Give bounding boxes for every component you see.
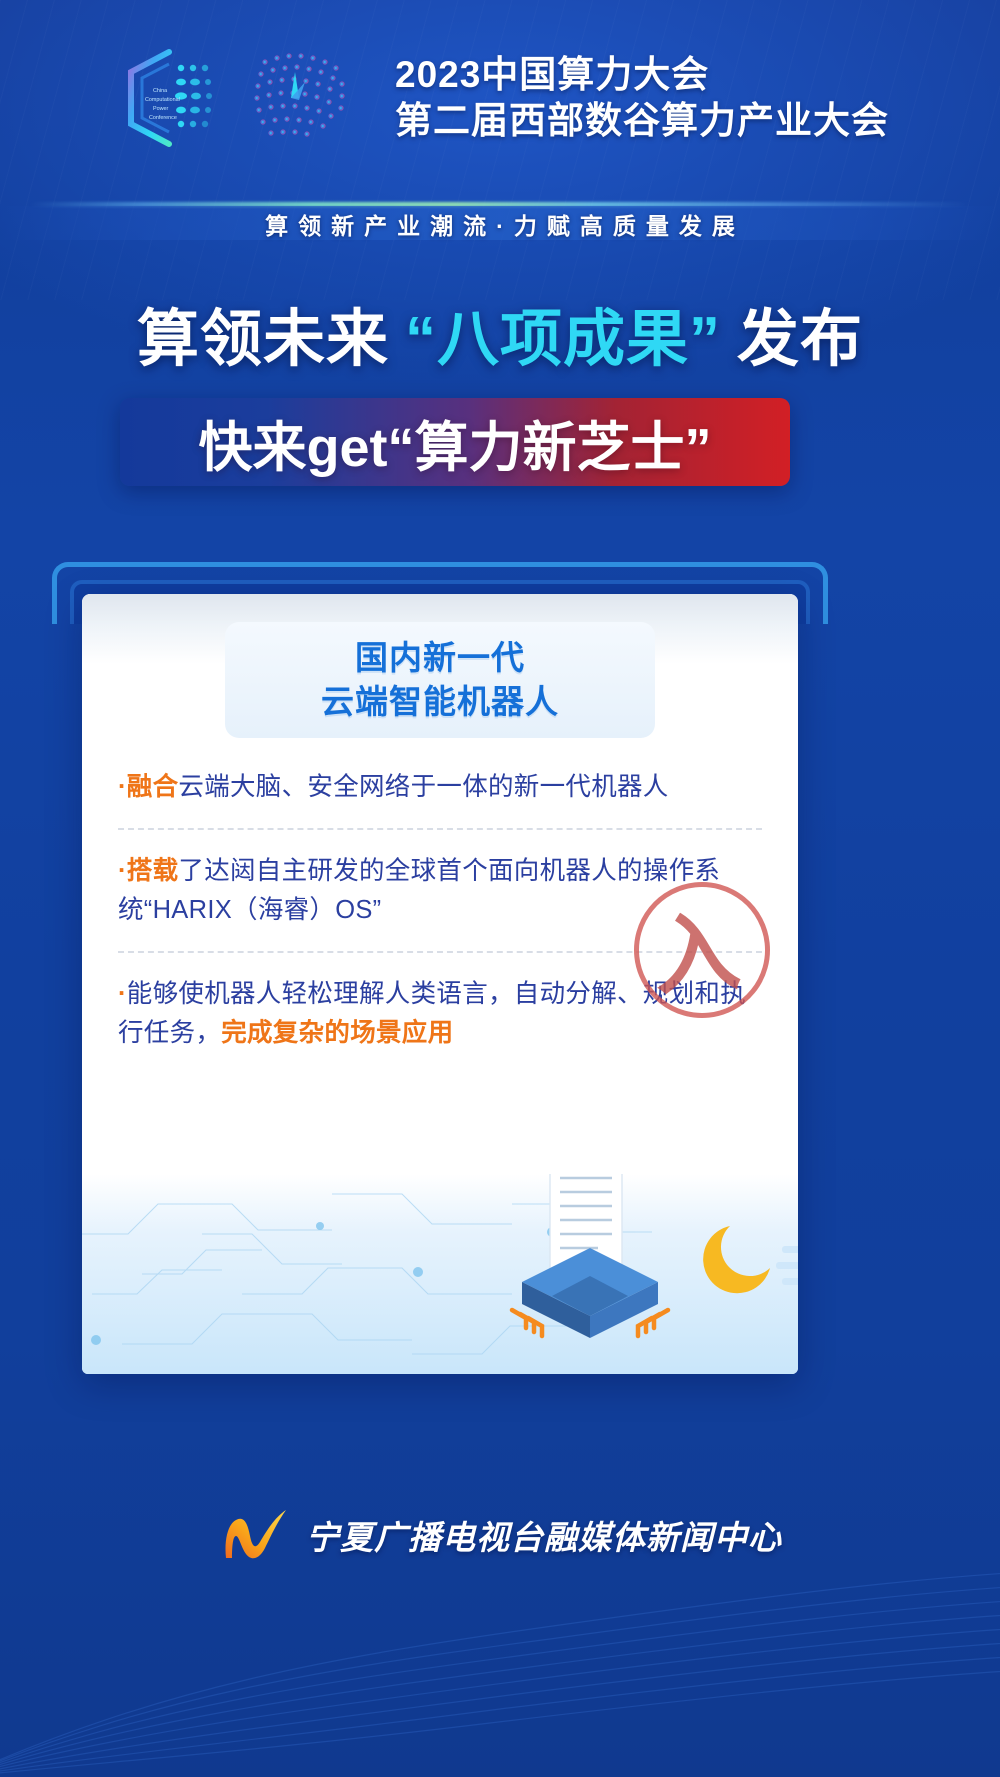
headline-banner-text: 快来get“算力新芝士” <box>120 398 790 486</box>
headline-line-1: 算领未来 “八项成果” 发布 <box>0 288 1000 378</box>
slogan-bar: 算领新产业潮流·力赋高质量发展 <box>0 196 1000 246</box>
card-heading-badge: 国内新一代 云端智能机器人 <box>225 622 655 738</box>
bullet-text: 了达闼自主研发的全球首个面向机器人的操作系统“HARIX（海睿）OS” <box>118 857 720 925</box>
bullet-highlight: 搭载 <box>127 857 179 885</box>
bullet-tail-highlight: 完成复杂的场景应用 <box>221 1019 453 1047</box>
conference-header: China Computational Power Conference <box>0 0 1000 195</box>
conference-title-line1: 2023中国算力大会 <box>395 54 889 95</box>
card-illustration-area <box>82 1174 798 1374</box>
hexagon-dots-logo-icon: China Computational Power Conference <box>111 42 231 154</box>
conference-title-line2: 第二届西部数谷算力产业大会 <box>395 100 889 141</box>
footer: 宁夏广播电视台融媒体新闻中心 <box>0 1447 1000 1777</box>
footer-brand-text: 宁夏广播电视台融媒体新闻中心 <box>306 1511 782 1559</box>
svg-text:China: China <box>153 88 167 94</box>
headline-part2: “八项成果” <box>405 288 721 378</box>
radial-fan-logo-icon <box>245 42 363 154</box>
conference-title: 2023中国算力大会 第二届西部数谷算力产业大会 <box>395 54 889 141</box>
bullet-marker: · <box>118 857 127 885</box>
headline-part3: 发布 <box>737 288 863 378</box>
bullet-marker: · <box>118 980 127 1008</box>
slogan-text: 算领新产业潮流·力赋高质量发展 <box>0 204 1000 244</box>
list-item: ·融合云端大脑、安全网络于一体的新一代机器人 <box>118 746 762 828</box>
footer-brand: 宁夏广播电视台融媒体新闻中心 <box>0 1505 1000 1565</box>
svg-text:Power: Power <box>153 106 168 112</box>
result-card: 国内新一代 云端智能机器人 ·融合云端大脑、安全网络于一体的新一代机器人 ·搭载… <box>82 594 798 1374</box>
stamp-character: 入 <box>651 909 743 1001</box>
card-heading-line1: 国内新一代 <box>355 638 525 678</box>
svg-text:Conference: Conference <box>149 115 177 121</box>
bullet-text: 云端大脑、安全网络于一体的新一代机器人 <box>178 773 668 801</box>
card-heading-line2: 云端智能机器人 <box>321 682 559 722</box>
svg-text:Computational: Computational <box>145 97 180 103</box>
bullet-highlight: 融合 <box>127 773 179 801</box>
poster-root: China Computational Power Conference <box>0 0 1000 1777</box>
headline-part1: 算领未来 <box>137 288 389 378</box>
isometric-chip-document-icon <box>82 1174 798 1374</box>
ningxia-n-logo-icon <box>218 1506 292 1564</box>
bullet-marker: · <box>118 773 127 801</box>
